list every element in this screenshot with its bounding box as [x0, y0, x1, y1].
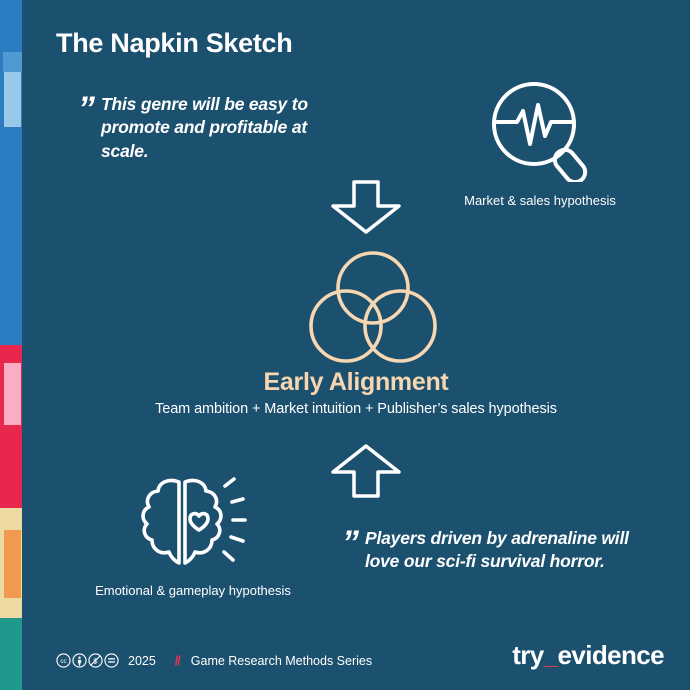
strip-band-blue-light: [0, 72, 22, 127]
footer: cc $ 2025 // Game Research Methods Serie…: [56, 653, 372, 668]
emotional-gameplay-hypothesis-caption: Emotional & gameplay hypothesis: [58, 583, 328, 598]
footer-series-label: Game Research Methods Series: [191, 654, 372, 668]
by-icon: [72, 653, 87, 668]
quote-top-text: This genre will be easy to promote and p…: [101, 93, 358, 163]
left-color-strip: [0, 0, 22, 690]
quote-player-hypothesis: ” Players driven by adrenaline will love…: [342, 527, 642, 574]
alignment-subtitle: Team ambition + Market intuition + Publi…: [22, 401, 690, 417]
brand-underscore: _: [544, 640, 558, 670]
strip-band-blue-dark: [0, 0, 22, 52]
strip-band-inner-pink-light: [4, 363, 21, 425]
strip-band-blue-mid: [0, 52, 22, 72]
page-title: The Napkin Sketch: [56, 28, 292, 59]
market-sales-hypothesis-caption: Market & sales hypothesis: [426, 193, 654, 208]
strip-band-teal-bottom: [0, 618, 22, 690]
strip-band-inner-blue-light: [4, 72, 21, 127]
svg-text:cc: cc: [60, 658, 66, 665]
strip-band-red-top: [0, 345, 22, 363]
strip-band-sand-bottom: [0, 598, 22, 618]
brand-prefix: try: [512, 640, 543, 670]
brain-heart-icon: [133, 559, 253, 576]
creative-commons-license-icons: cc $: [56, 653, 119, 668]
strip-band-red-solid: [0, 425, 22, 508]
nd-icon: [104, 653, 119, 668]
emotional-gameplay-hypothesis-block: Emotional & gameplay hypothesis: [58, 472, 328, 598]
brand-suffix: evidence: [558, 640, 665, 670]
nc-icon: $: [88, 653, 103, 668]
poster-card: The Napkin Sketch ” This genre will be e…: [22, 0, 690, 690]
magnifier-pulse-icon: [486, 169, 594, 186]
brand-logo: try_evidence: [512, 640, 664, 671]
footer-year: 2025: [128, 654, 156, 668]
arrow-up-icon: [324, 443, 408, 504]
market-sales-hypothesis-block: Market & sales hypothesis: [426, 78, 654, 208]
strip-band-pink-light: [0, 363, 22, 425]
strip-band-orange-mid: [0, 530, 22, 598]
venn-three-circles-icon: [304, 248, 442, 371]
strip-band-inner-orange-mid: [4, 530, 21, 598]
alignment-title: Early Alignment: [22, 368, 690, 397]
arrow-down-icon: [324, 179, 408, 240]
strip-band-blue-solid: [0, 127, 22, 345]
quote-bottom-text: Players driven by adrenaline will love o…: [365, 527, 642, 574]
quote-mark-icon: ”: [78, 93, 93, 163]
strip-band-inner-blue-mid: [3, 52, 22, 72]
quote-mark-icon: ”: [342, 527, 357, 574]
strip-band-sand-top: [0, 508, 22, 530]
footer-separator: //: [175, 654, 180, 668]
cc-icon: cc: [56, 653, 71, 668]
quote-market-hypothesis: ” This genre will be easy to promote and…: [78, 93, 358, 163]
